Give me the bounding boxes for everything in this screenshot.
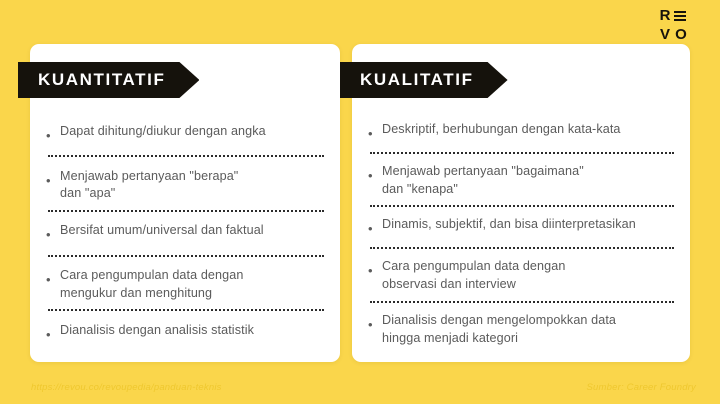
source-credit-caption: Sumber: Career Foundry xyxy=(587,382,696,393)
dotted-divider xyxy=(370,301,674,303)
list-item-text: Menjawab pertanyaan "bagaimana" dan "ken… xyxy=(382,163,676,199)
dotted-divider xyxy=(48,309,324,311)
list-item-text: Menjawab pertanyaan "berapa" dan "apa" xyxy=(60,168,326,204)
card-kualitatif: KUALITATIF • Deskriptif, berhubungan den… xyxy=(352,44,690,362)
dotted-divider xyxy=(370,247,674,249)
list-item: • Bersifat umum/universal dan faktual xyxy=(46,212,326,255)
logo-row-top: R xyxy=(656,6,702,25)
bullet-icon: • xyxy=(368,121,382,140)
card-tag-kualitatif: KUALITATIF xyxy=(340,62,508,98)
list-item: • Dapat dihitung/diukur dengan angka xyxy=(46,112,326,155)
source-url-caption: https://revou.co/revoupedia/panduan-tekn… xyxy=(31,382,222,393)
bullet-icon: • xyxy=(46,123,60,142)
card-tag-label: KUALITATIF xyxy=(360,70,474,90)
bullet-icon: • xyxy=(46,267,60,286)
dotted-divider xyxy=(370,152,674,154)
revou-logo: R V O xyxy=(656,6,702,46)
logo-letter-r: R xyxy=(656,6,674,25)
list-item: • Menjawab pertanyaan "berapa" dan "apa" xyxy=(46,157,326,210)
list-kuantitatif: • Dapat dihitung/diukur dengan angka • M… xyxy=(30,112,340,354)
bullet-icon: • xyxy=(46,322,60,341)
list-item: • Cara pengumpulan data dengan observasi… xyxy=(368,249,676,300)
bullet-icon: • xyxy=(368,163,382,182)
logo-bars-icon xyxy=(674,11,688,21)
bullet-icon: • xyxy=(368,216,382,235)
logo-letter-o: O xyxy=(674,25,688,44)
list-item-text: Dianalisis dengan analisis statistik xyxy=(60,322,326,340)
list-item-text: Dinamis, subjektif, dan bisa diinterpret… xyxy=(382,216,676,234)
list-item-text: Cara pengumpulan data dengan observasi d… xyxy=(382,258,676,294)
dotted-divider xyxy=(48,210,324,212)
bullet-icon: • xyxy=(46,168,60,187)
list-item: • Deskriptif, berhubungan dengan kata-ka… xyxy=(368,112,676,152)
card-tag-label: KUANTITATIF xyxy=(38,70,165,90)
list-item: • Dianalisis dengan analisis statistik xyxy=(46,311,326,354)
list-item-text: Dapat dihitung/diukur dengan angka xyxy=(60,123,326,141)
list-item-text: Cara pengumpulan data dengan mengukur da… xyxy=(60,267,326,303)
list-item: • Dinamis, subjektif, dan bisa diinterpr… xyxy=(368,207,676,247)
bullet-icon: • xyxy=(368,312,382,331)
list-item-text: Dianalisis dengan mengelompokkan data hi… xyxy=(382,312,676,348)
list-item-text: Bersifat umum/universal dan faktual xyxy=(60,222,326,240)
card-tag-kuantitatif: KUANTITATIF xyxy=(18,62,199,98)
list-item: • Cara pengumpulan data dengan mengukur … xyxy=(46,257,326,310)
infographic-canvas: R V O KUANTITATIF • Dapat dihitung/diuku… xyxy=(0,0,720,404)
bullet-icon: • xyxy=(46,222,60,241)
list-item-text: Deskriptif, berhubungan dengan kata-kata xyxy=(382,121,676,139)
list-item: • Dianalisis dengan mengelompokkan data … xyxy=(368,303,676,354)
bullet-icon: • xyxy=(368,258,382,277)
logo-letter-v: V xyxy=(656,25,674,44)
logo-row-bottom: V O xyxy=(656,25,702,44)
dotted-divider xyxy=(48,255,324,257)
list-item: • Menjawab pertanyaan "bagaimana" dan "k… xyxy=(368,154,676,205)
card-kuantitatif: KUANTITATIF • Dapat dihitung/diukur deng… xyxy=(30,44,340,362)
dotted-divider xyxy=(48,155,324,157)
dotted-divider xyxy=(370,205,674,207)
comparison-cards: KUANTITATIF • Dapat dihitung/diukur deng… xyxy=(0,44,720,364)
list-kualitatif: • Deskriptif, berhubungan dengan kata-ka… xyxy=(352,112,690,354)
